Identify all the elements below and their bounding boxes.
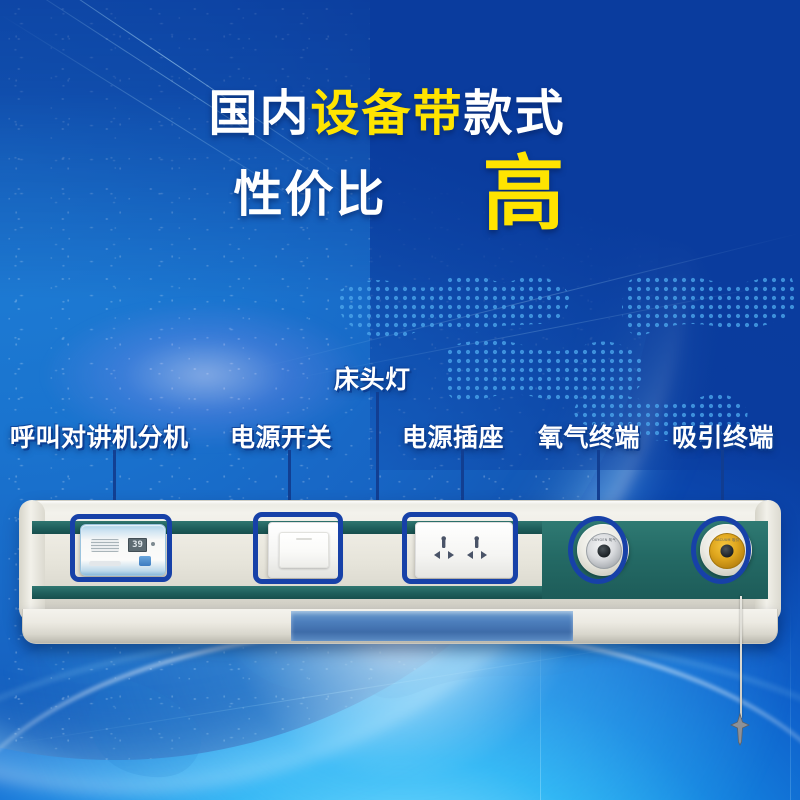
vertical-beam — [790, 600, 791, 800]
callout-label-power-socket: 电源插座 — [402, 418, 504, 454]
headline-line-1: 国内设备带款式 — [0, 86, 800, 142]
vertical-beam — [540, 620, 541, 800]
headline-line1-part3: 款式 — [464, 85, 566, 142]
callout-label-power-switch: 电源开关 — [230, 418, 332, 454]
highlight-circle-suction-terminal — [691, 516, 751, 584]
bed-lamp-diffuser[interactable] — [291, 611, 573, 641]
unit-end-cap-left — [19, 500, 45, 622]
highlight-box-intercom — [70, 514, 172, 582]
headline-block: 国内设备带款式 性价比高 — [0, 86, 800, 236]
product-banner: 国内设备带款式 性价比高 呼叫对讲机分机 电源开关 床头灯 电源插座 氧气终端 … — [0, 0, 800, 800]
pull-cord-handle[interactable] — [729, 712, 751, 746]
highlight-box-power-socket — [402, 512, 518, 584]
highlight-box-power-switch — [253, 512, 343, 584]
nurse-call-pull-cord[interactable] — [740, 596, 742, 718]
headline-line1-part2: 设备带 — [310, 85, 463, 142]
callout-label-bed-lamp: 床头灯 — [334, 360, 411, 396]
callout-label-oxygen-terminal: 氧气终端 — [538, 418, 640, 454]
headline-line2-part1: 性价比 — [233, 164, 482, 226]
callout-label-nurse-call-intercom: 呼叫对讲机分机 — [10, 418, 189, 454]
headline-line1-part1: 国内 — [208, 85, 310, 142]
unit-bottom-rail — [22, 609, 778, 644]
callout-label-suction-terminal: 吸引终端 — [672, 418, 774, 454]
headline-line-2: 性价比高 — [0, 154, 800, 236]
highlight-circle-oxygen-terminal — [568, 516, 628, 584]
headline-line2-part2: 高 — [483, 154, 567, 236]
